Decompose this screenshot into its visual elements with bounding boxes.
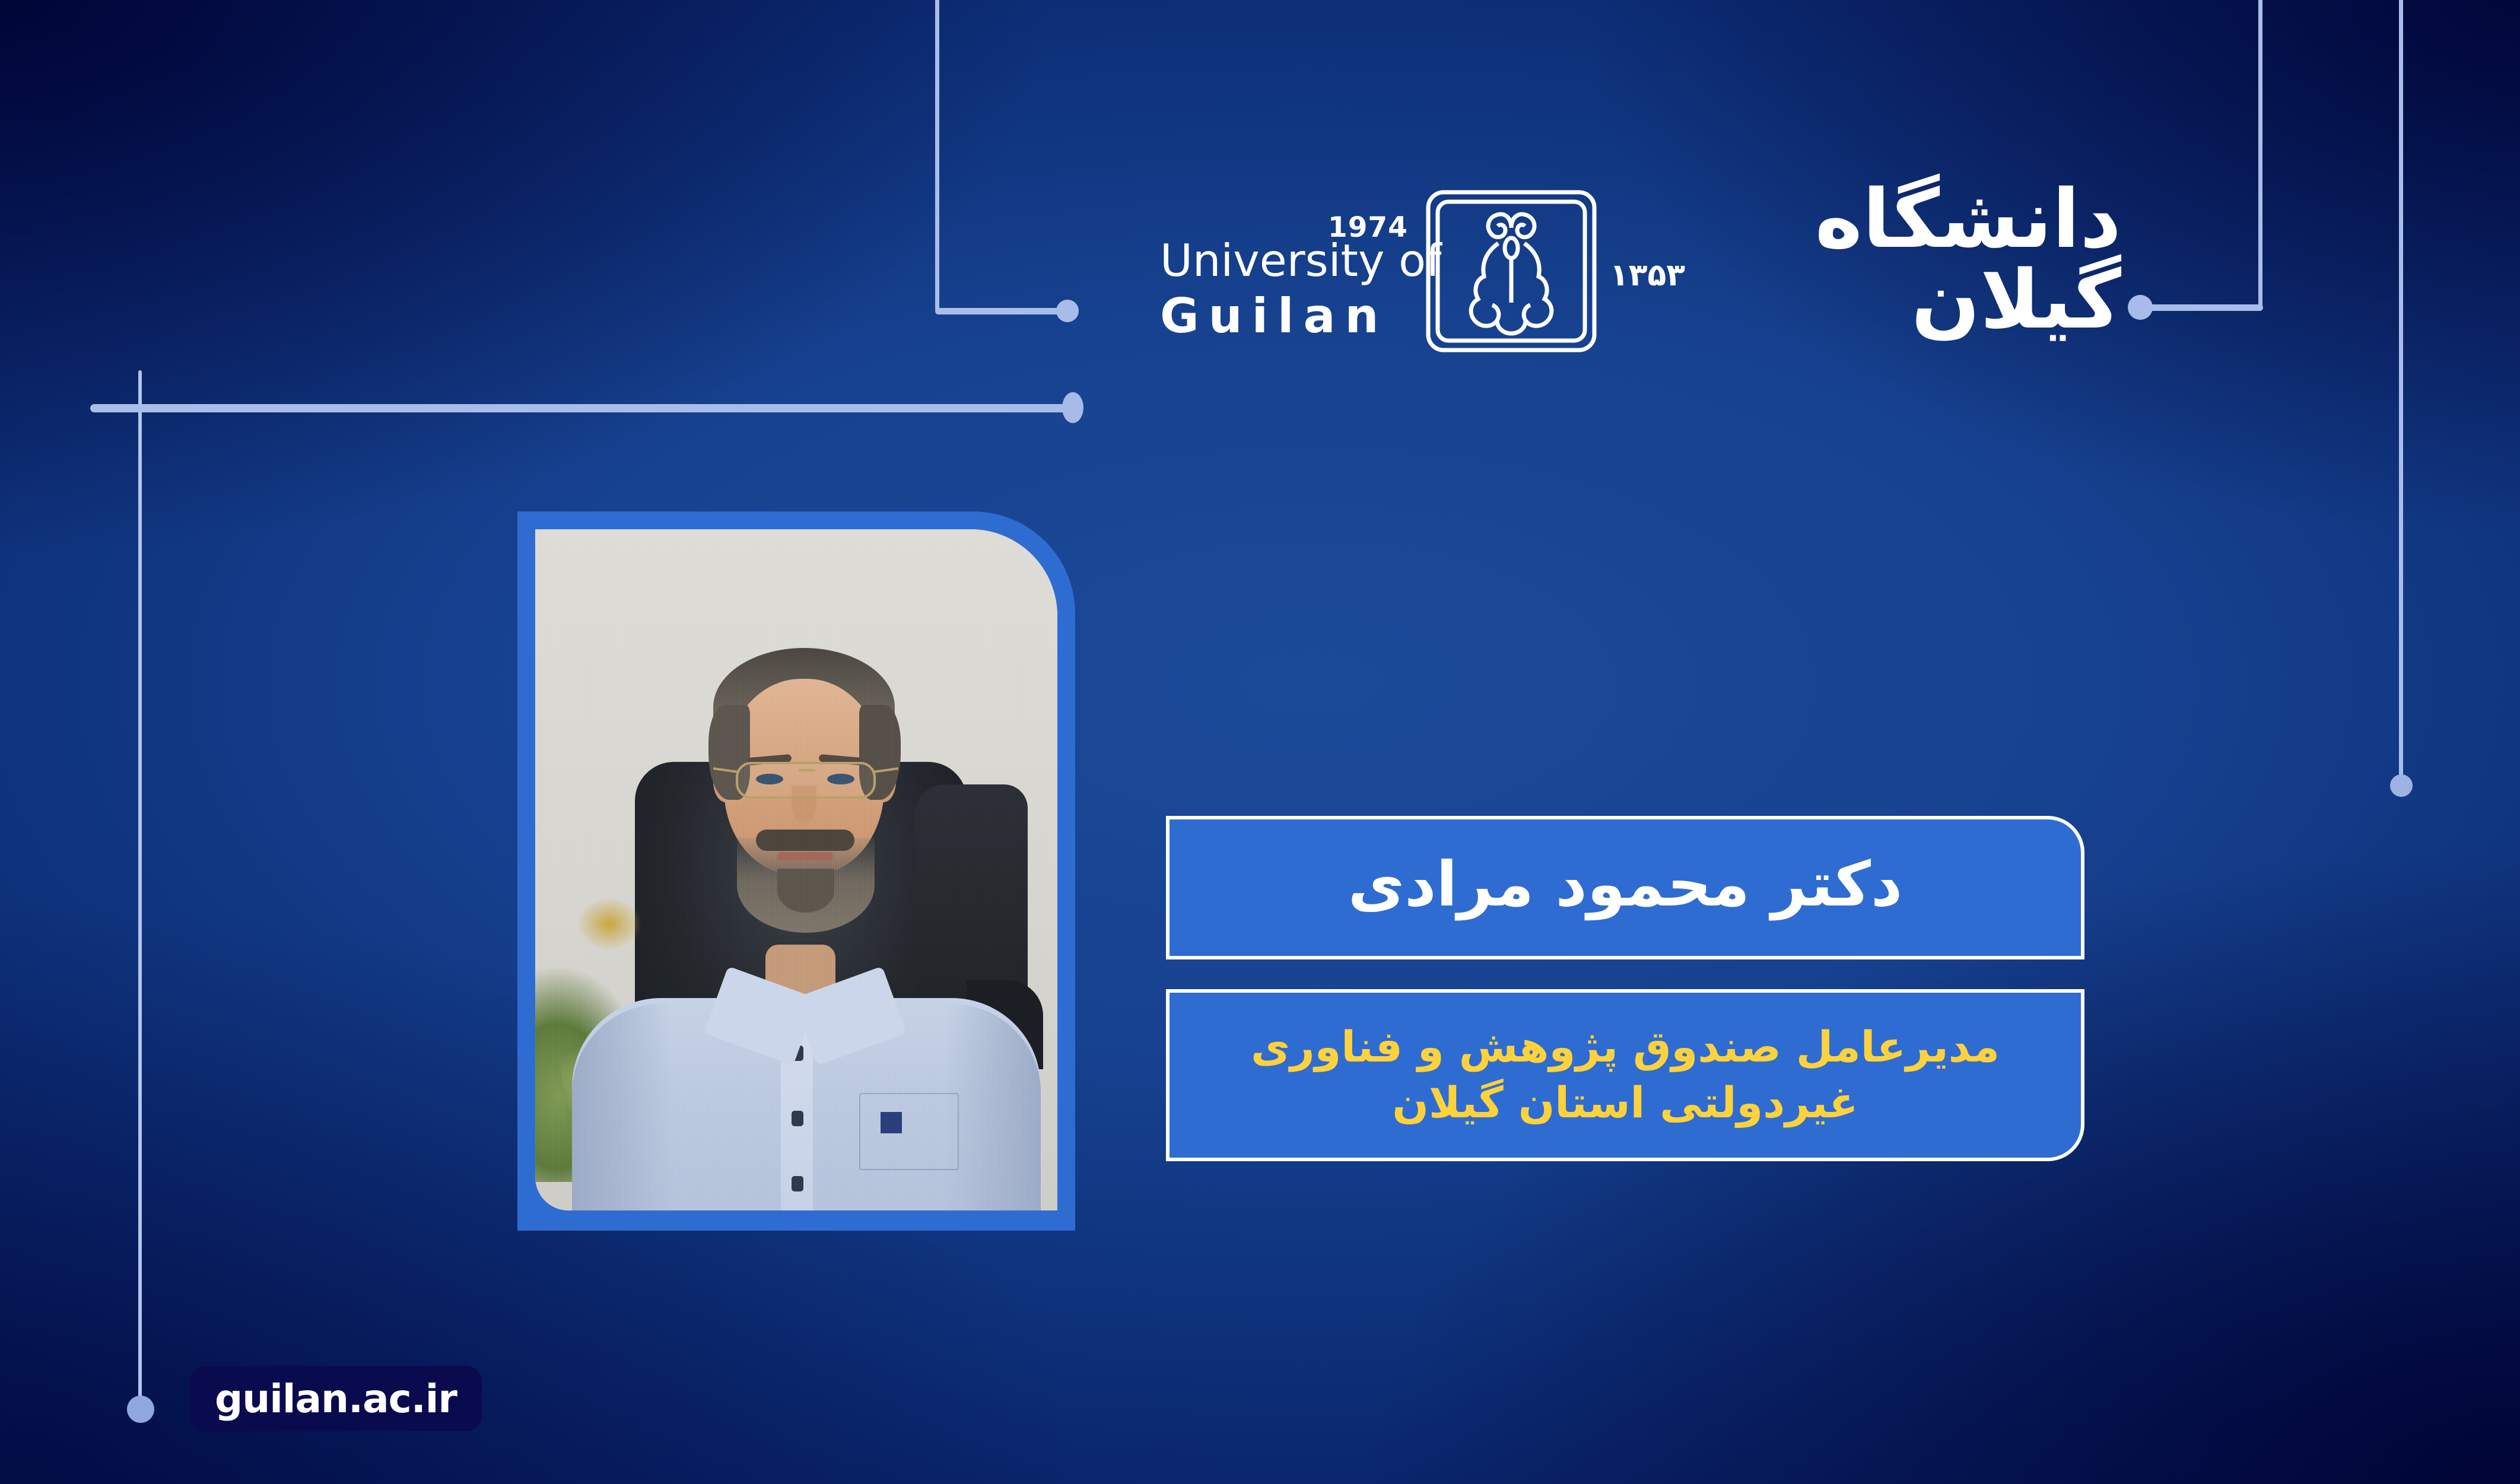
speaker-name: دکتر محمود مرادی <box>1348 852 1902 923</box>
decor-line-left-vertical <box>138 370 142 1409</box>
decor-dot-top-right <box>2128 295 2153 320</box>
decor-dot-left-vertical-end <box>127 1396 154 1423</box>
photo-texture-overlay <box>535 529 1057 1210</box>
website-badge[interactable]: guilan.ac.ir <box>190 1366 482 1431</box>
decor-line-top-right-horizontal <box>2138 304 2263 311</box>
poster-canvas: University of Guilan 1974 ۱۳۵۳ دانشگاه گ… <box>0 0 2520 1484</box>
logo-year-shamsi: ۱۳۵۳ <box>1610 258 1685 293</box>
decor-line-top-left-vertical <box>935 0 939 311</box>
speaker-role-banner: مدیرعامل صندوق پژوهش و فناوری غیردولتی ا… <box>1166 989 2084 1161</box>
speaker-role-line1: مدیرعامل صندوق پژوهش و فناوری <box>1251 1019 2000 1075</box>
speaker-role-line2: غیردولتی استان گیلان <box>1251 1075 2000 1131</box>
logo-persian-name: دانشگاه گیلان <box>1694 179 2121 357</box>
decor-line-top-right-vertical <box>2258 0 2262 309</box>
decor-dot-top-left <box>1056 300 1079 322</box>
decor-dot-right-edge-end <box>2390 774 2413 797</box>
university-logo: University of Guilan 1974 ۱۳۵۳ دانشگاه گ… <box>1160 196 2121 374</box>
decor-line-left-horizontal <box>90 404 1075 412</box>
guilan-university-emblem-icon <box>1422 186 1600 356</box>
logo-year-gregorian: 1974 <box>1328 211 1408 244</box>
logo-english-line1: University of <box>1160 239 1441 283</box>
speaker-role: مدیرعامل صندوق پژوهش و فناوری غیردولتی ا… <box>1251 1019 2000 1130</box>
decor-line-right-edge-vertical <box>2399 0 2403 785</box>
website-url: guilan.ac.ir <box>215 1376 457 1422</box>
speaker-name-banner: دکتر محمود مرادی <box>1166 816 2084 959</box>
logo-english-line2: Guilan <box>1160 293 1441 340</box>
logo-persian-name-text: دانشگاه گیلان <box>1815 173 2121 347</box>
portrait-photo <box>535 529 1057 1210</box>
decor-dot-left-horizontal-end <box>1062 392 1083 423</box>
logo-english-name: University of Guilan <box>1160 230 1441 340</box>
decor-line-top-left-horizontal <box>935 308 1062 314</box>
